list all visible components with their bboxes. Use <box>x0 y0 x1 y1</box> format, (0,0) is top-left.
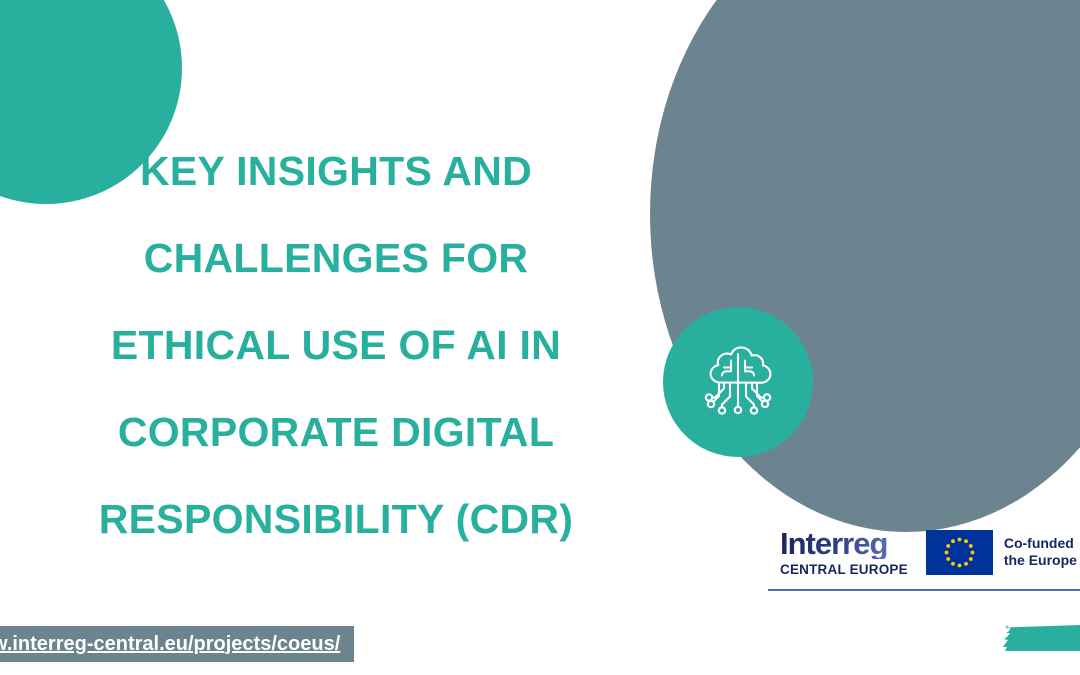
slide-title: KEY INSIGHTS AND CHALLENGES FOR ETHICAL … <box>36 128 636 563</box>
project-url-bar[interactable]: w.interreg-central.eu/projects/coeus/ <box>0 626 354 662</box>
eu-funding-block: Co-funded the Europe <box>926 530 1077 575</box>
logo-divider-rule <box>768 589 1080 591</box>
interreg-logo: Interreg CENTRAL EUROPE <box>780 528 908 577</box>
title-line-1: KEY INSIGHTS AND <box>36 128 636 215</box>
title-line-4: CORPORATE DIGITAL <box>36 389 636 476</box>
brush-stroke-icon <box>992 620 1080 656</box>
eu-caption-line-2: the Europe <box>1004 552 1077 570</box>
eu-stars-icon <box>926 530 993 575</box>
european-union-flag <box>926 530 993 575</box>
ai-icon-badge <box>663 307 813 457</box>
title-line-3: ETHICAL USE OF AI IN <box>36 302 636 389</box>
project-url-text[interactable]: w.interreg-central.eu/projects/coeus/ <box>0 633 340 656</box>
cloud-ai-circuit-icon <box>686 330 790 434</box>
title-line-2: CHALLENGES FOR <box>36 215 636 302</box>
presentation-slide: KEY INSIGHTS AND CHALLENGES FOR ETHICAL … <box>0 0 1080 675</box>
eu-funding-caption: Co-funded the Europe <box>1004 535 1077 570</box>
funding-logo-lockup: Interreg CENTRAL EUROPE <box>780 524 1077 580</box>
teal-brush-stroke-decoration <box>992 620 1080 656</box>
title-line-5: RESPONSIBILITY (CDR) <box>36 476 636 563</box>
interreg-subtitle: CENTRAL EUROPE <box>780 563 908 577</box>
eu-caption-line-1: Co-funded <box>1004 535 1077 553</box>
interreg-wordmark: Interreg <box>780 528 908 559</box>
